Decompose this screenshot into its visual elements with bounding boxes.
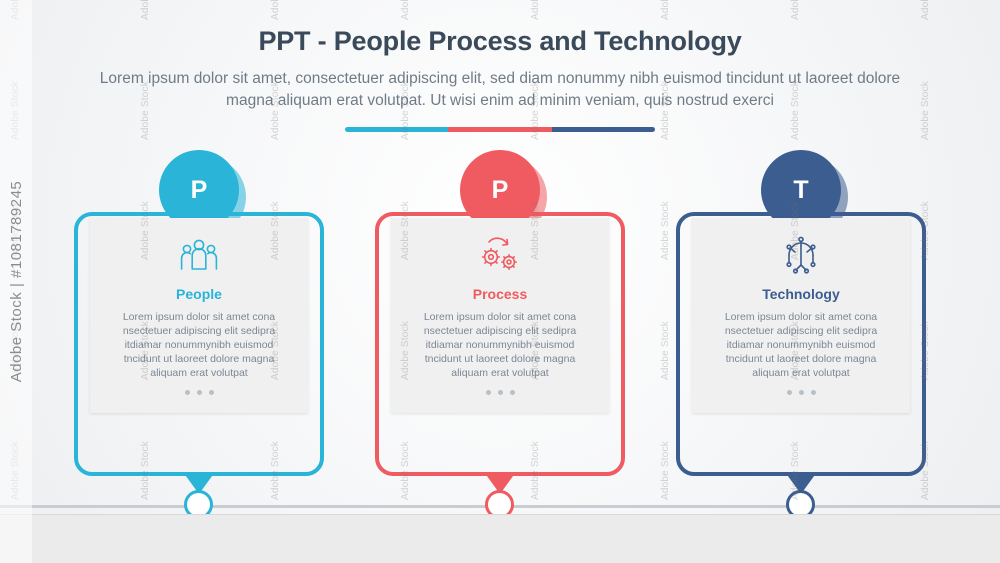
head-letter: P (492, 176, 509, 205)
technology-icon (777, 232, 825, 278)
accent-rule-segment-2 (448, 127, 551, 132)
accent-rule-segment-1 (345, 127, 448, 132)
watermark-sidebar-text: Adobe Stock | #1081789245 (0, 0, 32, 563)
card-body-text: Lorem ipsum dolor sit amet cona nsectetu… (708, 310, 894, 380)
head-letter: T (793, 176, 808, 205)
card-title: People (176, 286, 222, 302)
info-card[interactable]: People Lorem ipsum dolor sit amet cona n… (90, 218, 308, 413)
bottom-band (0, 514, 1000, 563)
card-body-text: Lorem ipsum dolor sit amet cona nsectetu… (106, 310, 292, 380)
card-dots (787, 390, 816, 395)
column-technology[interactable]: T (676, 150, 926, 470)
watermark-sidebar: Adobe Stock | #1081789245 (0, 0, 32, 563)
card-title: Process (473, 286, 527, 302)
column-process[interactable]: P Process Lorem ipsu (375, 150, 625, 470)
card-body-text: Lorem ipsum dolor sit amet cona nsectetu… (407, 310, 593, 380)
accent-rule-segment-3 (552, 127, 655, 132)
gears-icon (476, 232, 524, 278)
people-icon (175, 232, 223, 278)
accent-rule (345, 127, 655, 132)
column-people[interactable]: P People Lorem ipsum dolor sit amet cona… (74, 150, 324, 470)
slide-canvas: PPT - People Process and Technology Lore… (0, 0, 1000, 563)
page-title: PPT - People Process and Technology (0, 26, 1000, 57)
card-dots (486, 390, 515, 395)
head-letter: P (191, 176, 208, 205)
info-card[interactable]: Process Lorem ipsum dolor sit amet cona … (391, 218, 609, 413)
page-subtitle: Lorem ipsum dolor sit amet, consectetuer… (80, 68, 920, 112)
info-card[interactable]: Technology Lorem ipsum dolor sit amet co… (692, 218, 910, 413)
card-dots (185, 390, 214, 395)
card-title: Technology (762, 286, 840, 302)
